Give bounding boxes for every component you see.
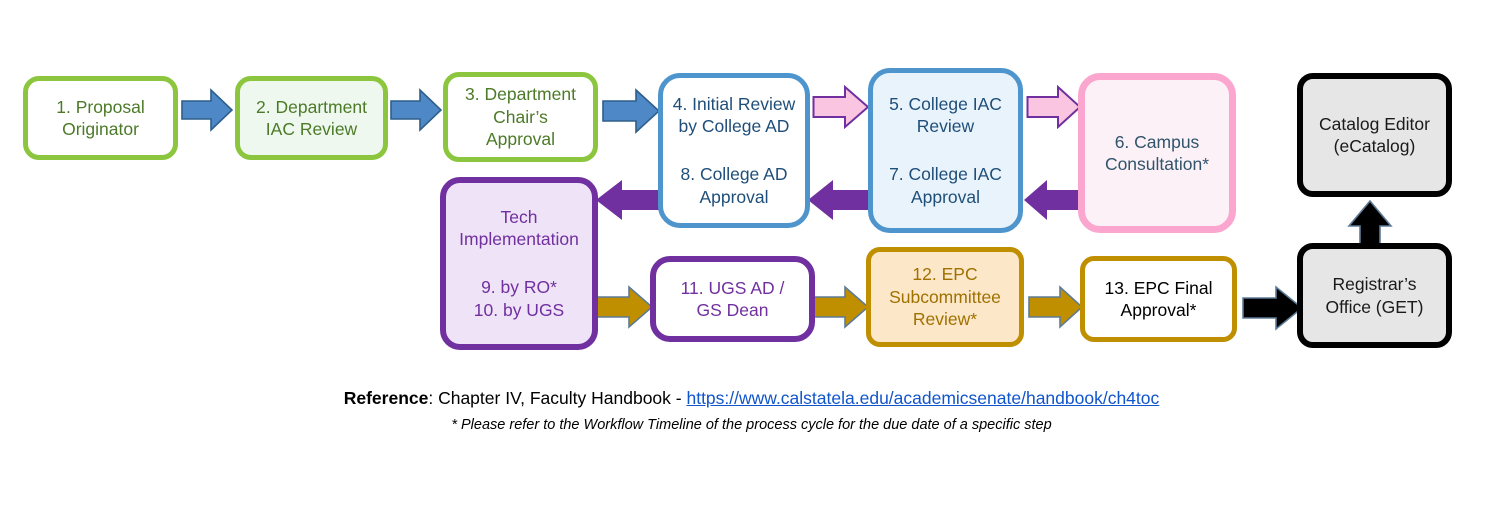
arrow-1-to-2-icon: [181, 88, 233, 132]
arrow-4-to-tech-icon: [594, 178, 660, 222]
node-label-line: 6. Campus: [1115, 131, 1200, 153]
node-tech-implementation[interactable]: Tech Implementation 9. by RO* 10. by UGS: [440, 177, 598, 350]
node-catalog-editor[interactable]: Catalog Editor (eCatalog): [1297, 73, 1452, 197]
node-label-line: GS Dean: [697, 299, 769, 321]
node-label-line: Subcommittee: [889, 286, 1001, 308]
node-label-line: 9. by RO*: [481, 276, 557, 298]
footnote-line: * Please refer to the Workflow Timeline …: [0, 417, 1503, 433]
node-label-line: Registrar’s: [1333, 273, 1417, 295]
node-epc-final-approval[interactable]: 13. EPC Final Approval*: [1080, 256, 1237, 342]
node-department-chair-approval[interactable]: 3. Department Chair’s Approval: [443, 72, 598, 162]
node-label-line: 7. College IAC: [889, 163, 1002, 185]
node-initial-review-college-ad[interactable]: 4. Initial Review by College AD 8. Colle…: [658, 73, 810, 228]
node-label-line: Tech: [501, 206, 538, 228]
node-college-iac-review[interactable]: 5. College IAC Review 7. College IAC App…: [868, 68, 1023, 233]
node-label-line: 8. College AD: [680, 163, 787, 185]
node-label-line: Consultation*: [1105, 153, 1209, 175]
arrow-5-to-4-icon: [806, 178, 870, 222]
node-department-iac-review[interactable]: 2. Department IAC Review: [235, 76, 388, 160]
node-label-line: 1. Proposal: [56, 96, 145, 118]
node-label-line: 10. by UGS: [474, 299, 564, 321]
node-label-line: Approval: [699, 186, 768, 208]
node-label-line: 2. Department: [256, 96, 367, 118]
node-label-line: 4. Initial Review: [673, 93, 796, 115]
node-campus-consultation[interactable]: 6. Campus Consultation*: [1078, 73, 1236, 233]
node-label-line: Originator: [62, 118, 139, 140]
arrow-12-to-13-icon: [1028, 285, 1084, 329]
arrow-6-to-5-icon: [1022, 178, 1080, 222]
footer: Reference: Chapter IV, Faculty Handbook …: [0, 388, 1503, 433]
node-label-line: by College AD: [679, 115, 790, 137]
node-registrars-office[interactable]: Registrar’s Office (GET): [1297, 243, 1452, 348]
node-label-line: 5. College IAC: [889, 93, 1002, 115]
reference-text: : Chapter IV, Faculty Handbook -: [428, 388, 686, 408]
arrow-3-to-4-icon: [602, 88, 660, 134]
arrow-tech-to-11-icon: [596, 285, 654, 329]
node-label-line: Approval: [911, 186, 980, 208]
node-label-line: 3. Department: [465, 83, 576, 105]
node-label-line: Approval*: [1121, 299, 1197, 321]
reference-label: Reference: [344, 388, 429, 408]
node-label-line: Review: [917, 115, 974, 137]
workflow-diagram: 1. Proposal Originator 2. Department IAC…: [0, 0, 1503, 506]
node-ugs-ad-gs-dean[interactable]: 11. UGS AD / GS Dean: [650, 256, 815, 342]
node-label-line: IAC Review: [266, 118, 357, 140]
handbook-link[interactable]: https://www.calstatela.edu/academicsenat…: [686, 388, 1159, 408]
reference-line: Reference: Chapter IV, Faculty Handbook …: [0, 388, 1503, 409]
node-label-line: 13. EPC Final: [1105, 277, 1213, 299]
node-epc-subcommittee-review[interactable]: 12. EPC Subcommittee Review*: [866, 247, 1024, 347]
arrow-13-to-registrar-icon: [1242, 285, 1304, 331]
node-label-line: Chair’s: [493, 106, 548, 128]
node-proposal-originator[interactable]: 1. Proposal Originator: [23, 76, 178, 160]
arrow-5-to-6-icon: [1026, 85, 1082, 129]
node-label-line: (eCatalog): [1334, 135, 1416, 157]
arrow-4-to-5-icon: [812, 85, 870, 129]
node-label-line: Office (GET): [1326, 296, 1424, 318]
node-label-line: Review*: [913, 308, 977, 330]
arrow-11-to-12-icon: [812, 285, 870, 329]
node-label-line: 12. EPC: [912, 263, 977, 285]
node-label-line: Approval: [486, 128, 555, 150]
node-label-line: 11. UGS AD /: [681, 277, 785, 299]
node-label-line: Implementation: [459, 228, 579, 250]
arrow-2-to-3-icon: [390, 88, 442, 132]
node-label-line: Catalog Editor: [1319, 113, 1430, 135]
